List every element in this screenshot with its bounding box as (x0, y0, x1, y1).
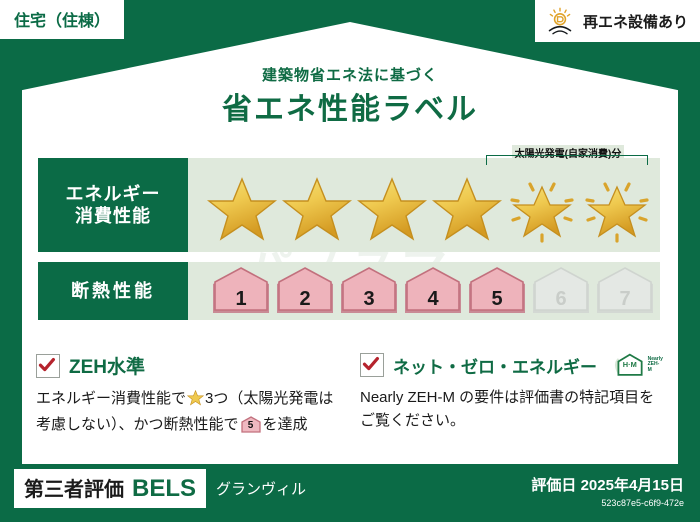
renewable-badge-label: 再エネ設備あり (583, 11, 688, 32)
renewable-equipment-badge: 再エネ設備あり (535, 0, 700, 42)
bels-energy-label: パノスマ 住宅（住棟） 再エネ設備あり 建築物省エネ法に基づく 省エネ性能ラベ (0, 0, 700, 522)
net-zero-description: Nearly ZEH-M の要件は評価書の特記項目をご覧ください。 (360, 386, 660, 433)
energy-label-line1: エネルギー (66, 183, 161, 206)
insulation-grade-1: 1 (210, 267, 272, 315)
evaluation-date-label: 評価日 (531, 477, 576, 494)
zeh-m-caption-line2: ZEH-M (648, 362, 664, 373)
insulation-grade-7: 7 (594, 267, 656, 315)
bels-badge: 第三者評価 BELS (14, 469, 206, 508)
energy-performance-row: エネルギー 消費性能 太陽光発電(自家消費)分 (38, 158, 660, 252)
net-zero-energy-block: ネット・ゼロ・エネルギー H·M Nearly ZEH-M Nearly ZEH… (360, 352, 660, 433)
check-icon (360, 353, 384, 377)
insulation-grade-value: 4 (402, 288, 464, 311)
star-rating (188, 173, 653, 243)
evaluation-date: 評価日 2025年4月15日 (531, 474, 684, 495)
svg-text:H·M: H·M (623, 360, 637, 369)
insulation-grade-3: 3 (338, 267, 400, 315)
insulation-grade-5: 5 (466, 267, 528, 315)
property-name: グランヴィル (216, 478, 306, 499)
star-icon (187, 389, 204, 413)
house-badge-value: 5 (241, 418, 261, 434)
footer-evaluation-info: 評価日 2025年4月15日 523c87e5-c6f9-472e (531, 474, 684, 508)
zeh-description-part3: を達成 (263, 416, 308, 433)
energy-performance-rating: 太陽光発電(自家消費)分 (188, 158, 660, 252)
insulation-grade-value: 2 (274, 288, 336, 311)
insulation-performance-label: 断熱性能 (38, 262, 188, 320)
bels-jp-label: 第三者評価 (24, 473, 124, 502)
insulation-grade-value: 7 (594, 288, 656, 311)
star-icon (356, 173, 428, 243)
house-type-tag: 住宅（住棟） (0, 0, 124, 39)
insulation-performance-rating: 1234567 (188, 262, 660, 320)
footer-bels: 第三者評価 BELS グランヴィル (14, 469, 306, 508)
zeh-description-part1: エネルギー消費性能で (36, 390, 186, 407)
zeh-standard-block: ZEH水準 エネルギー消費性能で3つ（太陽光発電は考慮しない）、かつ断熱性能で5… (36, 352, 336, 437)
insulation-grade-6: 6 (530, 267, 592, 315)
energy-performance-label: エネルギー 消費性能 (38, 158, 188, 252)
insulation-grade-value: 6 (530, 288, 592, 311)
insulation-grade-4: 4 (402, 267, 464, 315)
insulation-performance-row: 断熱性能 1234567 (38, 262, 660, 320)
label-uid: 523c87e5-c6f9-472e (531, 498, 684, 508)
net-zero-heading: ネット・ゼロ・エネルギー H·M Nearly ZEH-M (360, 352, 660, 378)
insulation-grade-value: 5 (466, 288, 528, 311)
sun-solar-icon (545, 7, 575, 35)
bels-en-label: BELS (132, 475, 196, 503)
zeh-description: エネルギー消費性能で3つ（太陽光発電は考慮しない）、かつ断熱性能で5を達成 (36, 387, 336, 437)
insulation-grade-scale: 1234567 (188, 267, 656, 315)
insulation-grade-value: 1 (210, 288, 272, 311)
solar-bracket (486, 155, 648, 165)
star-icon (431, 173, 503, 243)
label-subtitle: 建築物省エネ法に基づく (0, 64, 700, 85)
star-icon (206, 173, 278, 243)
star-solar-icon (581, 173, 653, 243)
net-zero-title: ネット・ゼロ・エネルギー (393, 353, 597, 378)
star-solar-icon (506, 173, 578, 243)
zeh-title: ZEH水準 (69, 352, 145, 379)
insulation-grade-value: 3 (338, 288, 400, 311)
zeh-heading: ZEH水準 (36, 352, 336, 379)
solar-annotation: 太陽光発電(自家消費)分 (482, 144, 654, 162)
star-icon (281, 173, 353, 243)
house-badge-icon: 5 (241, 416, 261, 433)
check-icon (36, 354, 60, 378)
label-title: 省エネ性能ラベル (0, 84, 700, 128)
energy-label-line2: 消費性能 (66, 205, 161, 228)
evaluation-date-value: 2025年4月15日 (581, 477, 684, 494)
nearly-zeh-m-logo: H·M Nearly ZEH-M (610, 352, 663, 378)
insulation-grade-2: 2 (274, 267, 336, 315)
